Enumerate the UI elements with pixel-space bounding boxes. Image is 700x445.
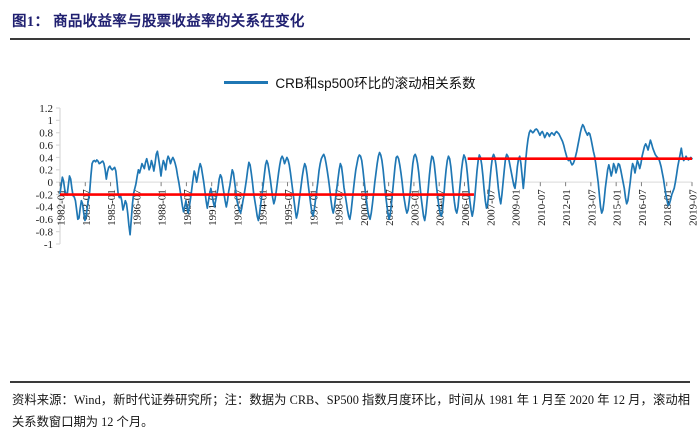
y-axis-label: 0.8 bbox=[39, 128, 53, 140]
legend-line-swatch bbox=[224, 81, 268, 84]
y-axis-label: -0.6 bbox=[36, 214, 54, 226]
y-axis-label: 0 bbox=[48, 177, 54, 189]
y-axis-label: -0.2 bbox=[36, 189, 53, 201]
chart-plot-area: 1.210.80.60.40.20-0.2-0.4-0.6-0.8-11982-… bbox=[0, 96, 700, 371]
x-axis-label: 2010-07 bbox=[536, 189, 548, 226]
y-axis-label: 0.2 bbox=[39, 165, 53, 177]
y-axis-label: 1.2 bbox=[39, 103, 53, 115]
x-axis-label: 2015-01 bbox=[612, 189, 624, 226]
y-axis-label: 1 bbox=[48, 115, 54, 127]
line-chart-svg: 1.210.80.60.40.20-0.2-0.4-0.6-0.8-11982-… bbox=[0, 96, 700, 371]
source-note: 资料来源：Wind，新时代证券研究所；注：数据为 CRB、SP500 指数月度环… bbox=[12, 390, 690, 433]
figure-title: 图1： 商品收益率与股票收益率的关系在变化 bbox=[12, 10, 305, 31]
x-axis-label: 2019-07 bbox=[688, 189, 700, 226]
y-axis-label: -1 bbox=[44, 239, 53, 251]
legend-label: CRB和sp500环比的滚动相关系数 bbox=[275, 72, 475, 92]
figure-container: 图1： 商品收益率与股票收益率的关系在变化 CRB和sp500环比的滚动相关系数… bbox=[0, 0, 700, 445]
x-axis-label: 2009-01 bbox=[511, 189, 523, 226]
y-axis-label: 0.4 bbox=[39, 152, 53, 164]
x-axis-label: 2013-07 bbox=[586, 189, 598, 226]
footer-divider bbox=[10, 381, 690, 383]
header-divider bbox=[10, 38, 690, 40]
chart-legend: CRB和sp500环比的滚动相关系数 bbox=[0, 72, 700, 92]
x-axis-label: 2012-01 bbox=[561, 189, 573, 226]
y-axis-label: -0.8 bbox=[36, 226, 54, 238]
y-axis-label: 0.6 bbox=[39, 140, 53, 152]
x-axis-label: 2016-07 bbox=[637, 189, 649, 226]
y-axis-label: -0.4 bbox=[36, 202, 54, 214]
